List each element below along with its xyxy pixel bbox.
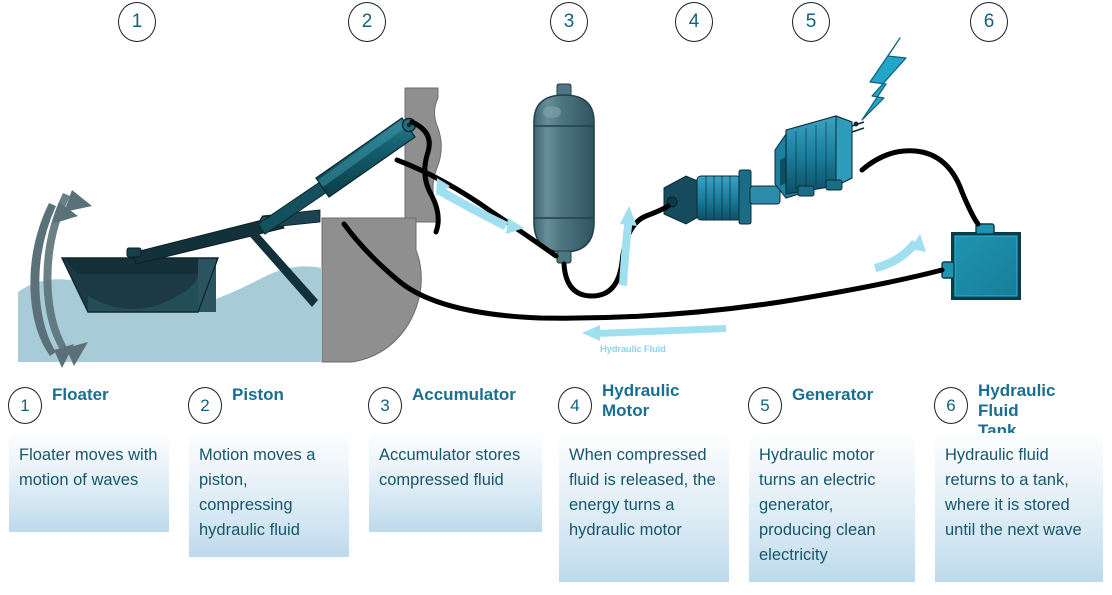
legend-desc-box-1: Floater moves with motion of waves bbox=[8, 433, 170, 533]
legend-desc-box-2: Motion moves a piston, compressing hydra… bbox=[188, 433, 350, 558]
legend-marker-4-label: 4 bbox=[570, 396, 579, 416]
hydraulic-fluid-flow-label: Hydraulic Fluid bbox=[600, 344, 666, 355]
legend-marker-3-label: 3 bbox=[380, 396, 389, 416]
diagram-illustration: Hydraulic Fluid bbox=[0, 0, 1112, 380]
legend-marker-2[interactable]: 2 bbox=[188, 387, 222, 424]
legend-title-1: Floater bbox=[52, 385, 109, 405]
legend-marker-3[interactable]: 3 bbox=[368, 387, 402, 424]
legend-marker-5[interactable]: 5 bbox=[748, 387, 782, 424]
fluid-tank-icon bbox=[942, 224, 1021, 300]
wave-machine-panel bbox=[18, 72, 448, 368]
legend-title-5: Generator bbox=[792, 385, 873, 405]
legend-marker-6[interactable]: 6 bbox=[934, 387, 968, 424]
accumulator-vessel-icon bbox=[534, 84, 594, 263]
floater-icon bbox=[62, 258, 218, 312]
legend-title-3: Accumulator bbox=[412, 385, 516, 405]
legend-title-2: Piston bbox=[232, 385, 284, 405]
legend-desc-box-3: Accumulator stores compressed fluid bbox=[368, 433, 543, 533]
legend-title-4: Hydraulic Motor bbox=[602, 381, 679, 421]
legend-desc-box-5: Hydraulic motor turns an electric genera… bbox=[748, 433, 916, 583]
legend-marker-4[interactable]: 4 bbox=[558, 387, 592, 424]
legend-marker-5-label: 5 bbox=[760, 396, 769, 416]
legend-desc-box-6: Hydraulic fluid returns to a tank, where… bbox=[934, 433, 1104, 583]
legend-marker-6-label: 6 bbox=[946, 396, 955, 416]
legend-marker-1-label: 1 bbox=[20, 396, 29, 416]
legend-marker-2-label: 2 bbox=[200, 396, 209, 416]
tank-panel bbox=[942, 222, 1026, 306]
legend-title-6: Hydraulic Fluid Tank bbox=[978, 381, 1055, 441]
lightning-bolt-icon bbox=[862, 38, 906, 120]
legend-row: 1 Floater Floater moves with motion of w… bbox=[0, 385, 1112, 595]
accumulator-panel bbox=[530, 82, 600, 264]
legend-desc-box-4: When compressed fluid is released, the e… bbox=[558, 433, 730, 583]
legend-marker-1[interactable]: 1 bbox=[8, 387, 42, 424]
motor-generator-panel bbox=[658, 114, 864, 242]
